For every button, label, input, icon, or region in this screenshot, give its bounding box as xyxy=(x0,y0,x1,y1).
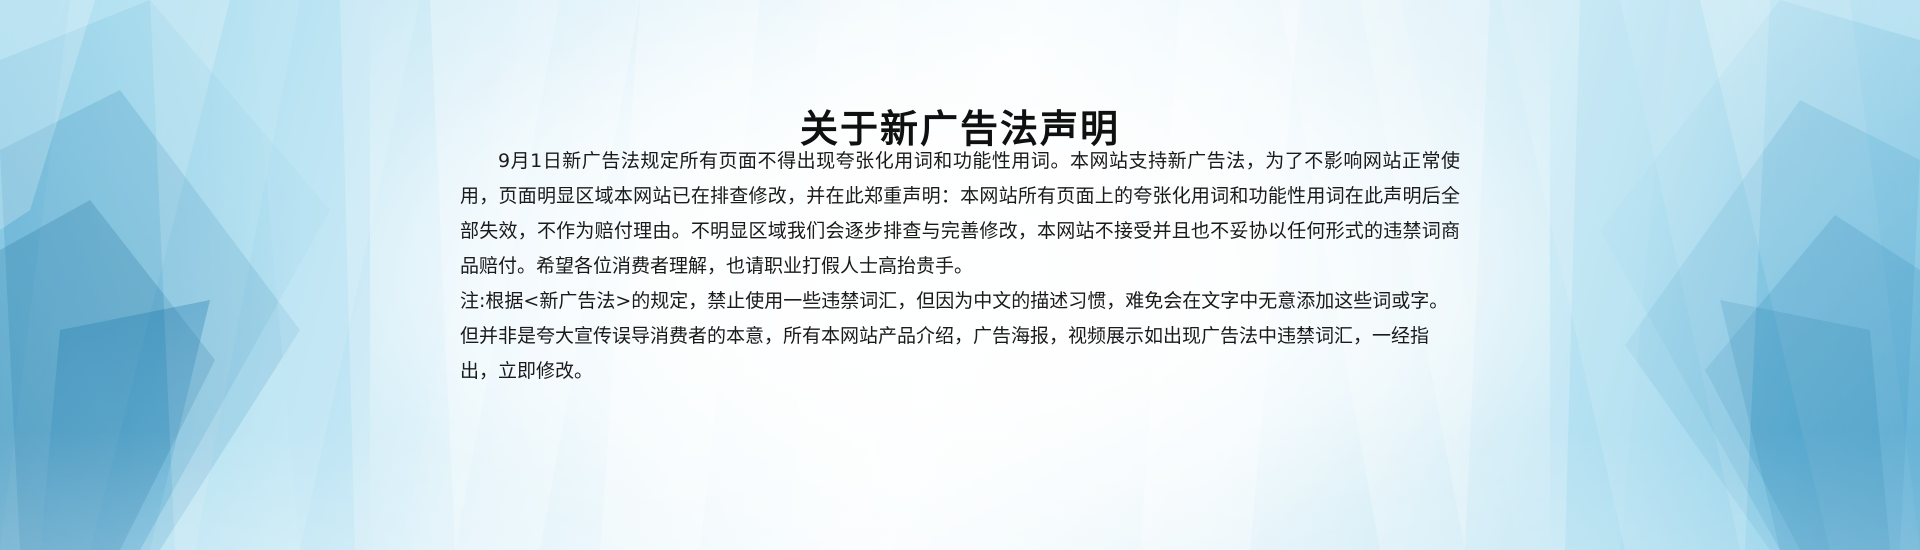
statement-body: 9月1日新广告法规定所有页面不得出现夸张化用词和功能性用词。本网站支持新广告法，… xyxy=(460,144,1460,389)
statement-paragraph-note: 注:根据<新广告法>的规定，禁止使用一些违禁词汇，但因为中文的描述习惯，难免会在… xyxy=(460,284,1460,389)
statement-content: 关于新广告法声明 9月1日新广告法规定所有页面不得出现夸张化用词和功能性用词。本… xyxy=(460,0,1460,550)
statement-paragraph-main: 9月1日新广告法规定所有页面不得出现夸张化用词和功能性用词。本网站支持新广告法，… xyxy=(460,144,1460,284)
advertising-law-statement-banner: 关于新广告法声明 9月1日新广告法规定所有页面不得出现夸张化用词和功能性用词。本… xyxy=(0,0,1920,550)
